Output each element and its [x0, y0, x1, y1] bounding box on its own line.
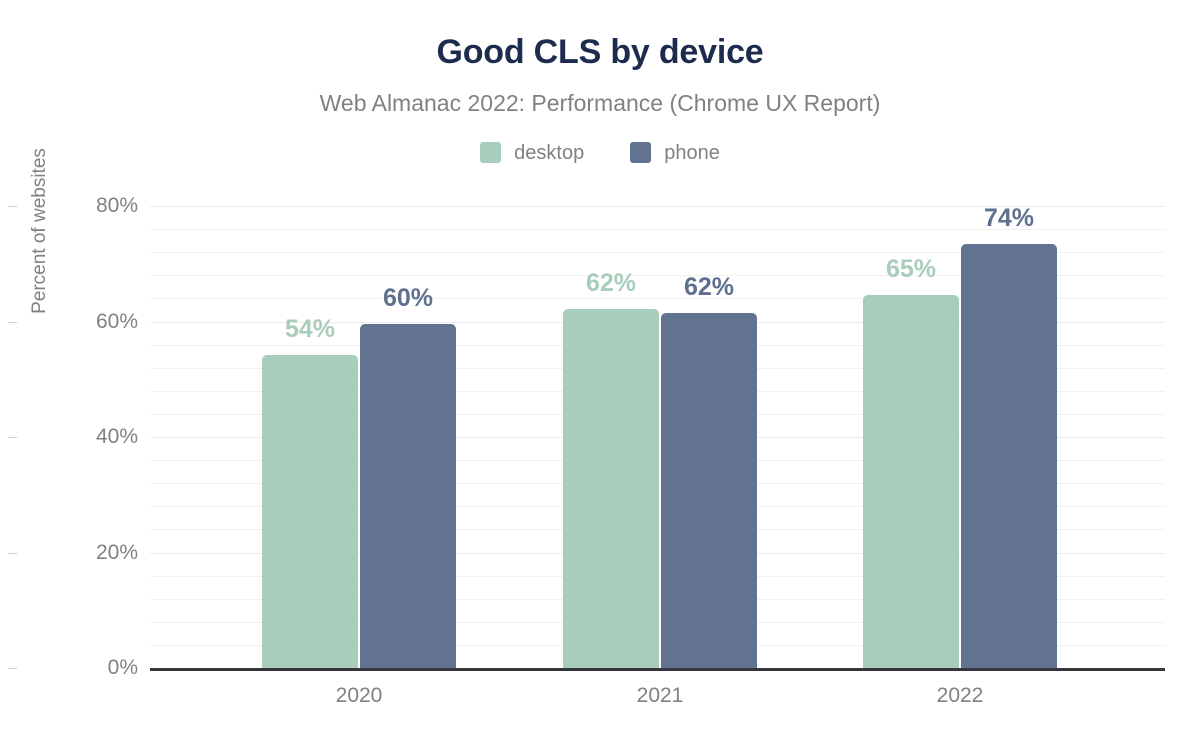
bar-value-label-desktop-2022: 65%: [886, 255, 936, 284]
bar-value-label-phone-2022: 74%: [984, 204, 1034, 233]
legend-label-desktop: desktop: [514, 143, 584, 163]
y-axis-tick-mark: [8, 206, 17, 207]
bar-desktop-2020[interactable]: [262, 355, 358, 668]
plot-area: 54%60%62%62%65%74% 202020212022: [150, 206, 1165, 668]
legend-label-phone: phone: [664, 143, 720, 163]
y-axis-title-text: Percent of websites: [29, 148, 51, 314]
chart-container: Good CLS by device Web Almanac 2022: Per…: [0, 0, 1200, 742]
legend-item-desktop[interactable]: desktop: [480, 142, 584, 163]
y-axis-tick-mark: [8, 322, 17, 323]
bar-value-label-phone-2021: 62%: [684, 273, 734, 302]
legend-item-phone[interactable]: phone: [630, 142, 720, 163]
legend-swatch-desktop: [480, 142, 501, 163]
x-axis-tick-label-2022: 2022: [840, 684, 1080, 708]
chart-title: Good CLS by device: [0, 33, 1200, 72]
bar-value-label-desktop-2020: 54%: [285, 315, 335, 344]
y-axis-tick-label: 0%: [18, 656, 138, 680]
chart-subtitle: Web Almanac 2022: Performance (Chrome UX…: [0, 90, 1200, 117]
y-axis-tick-label: 80%: [18, 194, 138, 218]
y-axis-tick-mark: [8, 553, 17, 554]
x-axis-tick-label-2020: 2020: [239, 684, 479, 708]
bar-value-label-desktop-2021: 62%: [586, 269, 636, 298]
x-axis-line: [150, 668, 1165, 671]
bar-desktop-2022[interactable]: [863, 295, 959, 668]
y-axis-tick-mark: [8, 437, 17, 438]
y-axis-title: Percent of websites: [26, 0, 54, 462]
bar-phone-2020[interactable]: [360, 324, 456, 668]
bar-phone-2021[interactable]: [661, 313, 757, 668]
bar-value-label-phone-2020: 60%: [383, 284, 433, 313]
y-axis-tick-label: 60%: [18, 310, 138, 334]
y-axis-tick-label: 40%: [18, 425, 138, 449]
y-axis-tick-mark: [8, 668, 17, 669]
chart-legend: desktop phone: [0, 142, 1200, 163]
bar-desktop-2021[interactable]: [563, 309, 659, 668]
legend-swatch-phone: [630, 142, 651, 163]
bar-phone-2022[interactable]: [961, 244, 1057, 668]
y-axis-tick-label: 20%: [18, 541, 138, 565]
x-axis-tick-label-2021: 2021: [540, 684, 780, 708]
